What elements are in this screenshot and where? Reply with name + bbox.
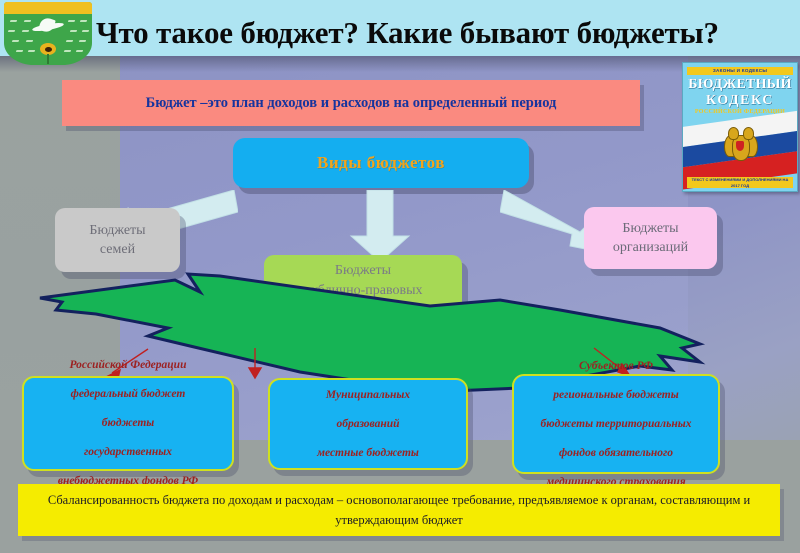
box-regional-budget-label: Субъектов РФ региональные бюджеты бюджет… — [541, 359, 692, 490]
definition-banner-text: Бюджет –это план доходов и расходов на о… — [146, 95, 557, 112]
footer-banner: Сбалансированность бюджета по доходам и … — [18, 484, 780, 536]
coat-of-arms-emblem — [4, 2, 92, 65]
footer-text: Сбалансированность бюджета по доходам и … — [30, 490, 768, 530]
box-organizations-label: Бюджеты организаций — [613, 219, 688, 257]
book-top-band: ЗАКОНЫ И КОДЕКСЫ — [687, 67, 793, 75]
box-family-budgets: Бюджеты семей — [55, 208, 180, 272]
box-organizations-budgets: Бюджеты организаций — [584, 207, 717, 269]
box-municipal-budget-label: Муниципальных образований местные бюджет… — [317, 388, 419, 461]
emblem-shield — [4, 2, 92, 65]
flower-stem — [47, 54, 49, 64]
page-title: Что такое бюджет? Какие бывают бюджеты? — [96, 12, 796, 54]
book-title-line1: БЮДЖЕТНЫЙ — [683, 77, 797, 93]
definition-banner: Бюджет –это план доходов и расходов на о… — [62, 80, 640, 126]
box-budget-types-label: Виды бюджетов — [317, 153, 445, 173]
box-family-budgets-label: Бюджеты семей — [89, 221, 145, 259]
double-headed-eagle-icon — [724, 127, 756, 167]
emblem-gold-band — [4, 2, 92, 14]
header-shadow — [0, 56, 800, 72]
slide-root: Что такое бюджет? Какие бывают бюджеты? … — [0, 0, 800, 553]
box-federal-budget: Российской Федерации федеральный бюджет … — [22, 376, 234, 471]
book-title-line2: КОДЕКС — [683, 93, 797, 109]
box-municipal-budget: Муниципальных образований местные бюджет… — [268, 378, 468, 470]
box-budget-types: Виды бюджетов — [233, 138, 529, 188]
book-bottom-band: ТЕКСТ С ИЗМЕНЕНИЯМИ И ДОПОЛНЕНИЯМИ НА 20… — [687, 177, 793, 189]
box-federal-budget-label: Российской Федерации федеральный бюджет … — [58, 358, 198, 489]
arrow-down-icon — [345, 190, 415, 262]
box-regional-budget: Субъектов РФ региональные бюджеты бюджет… — [512, 374, 720, 474]
budget-code-book-image: ЗАКОНЫ И КОДЕКСЫ БЮДЖЕТНЫЙ КОДЕКС РОССИЙ… — [682, 62, 798, 192]
dove-icon — [28, 18, 68, 40]
